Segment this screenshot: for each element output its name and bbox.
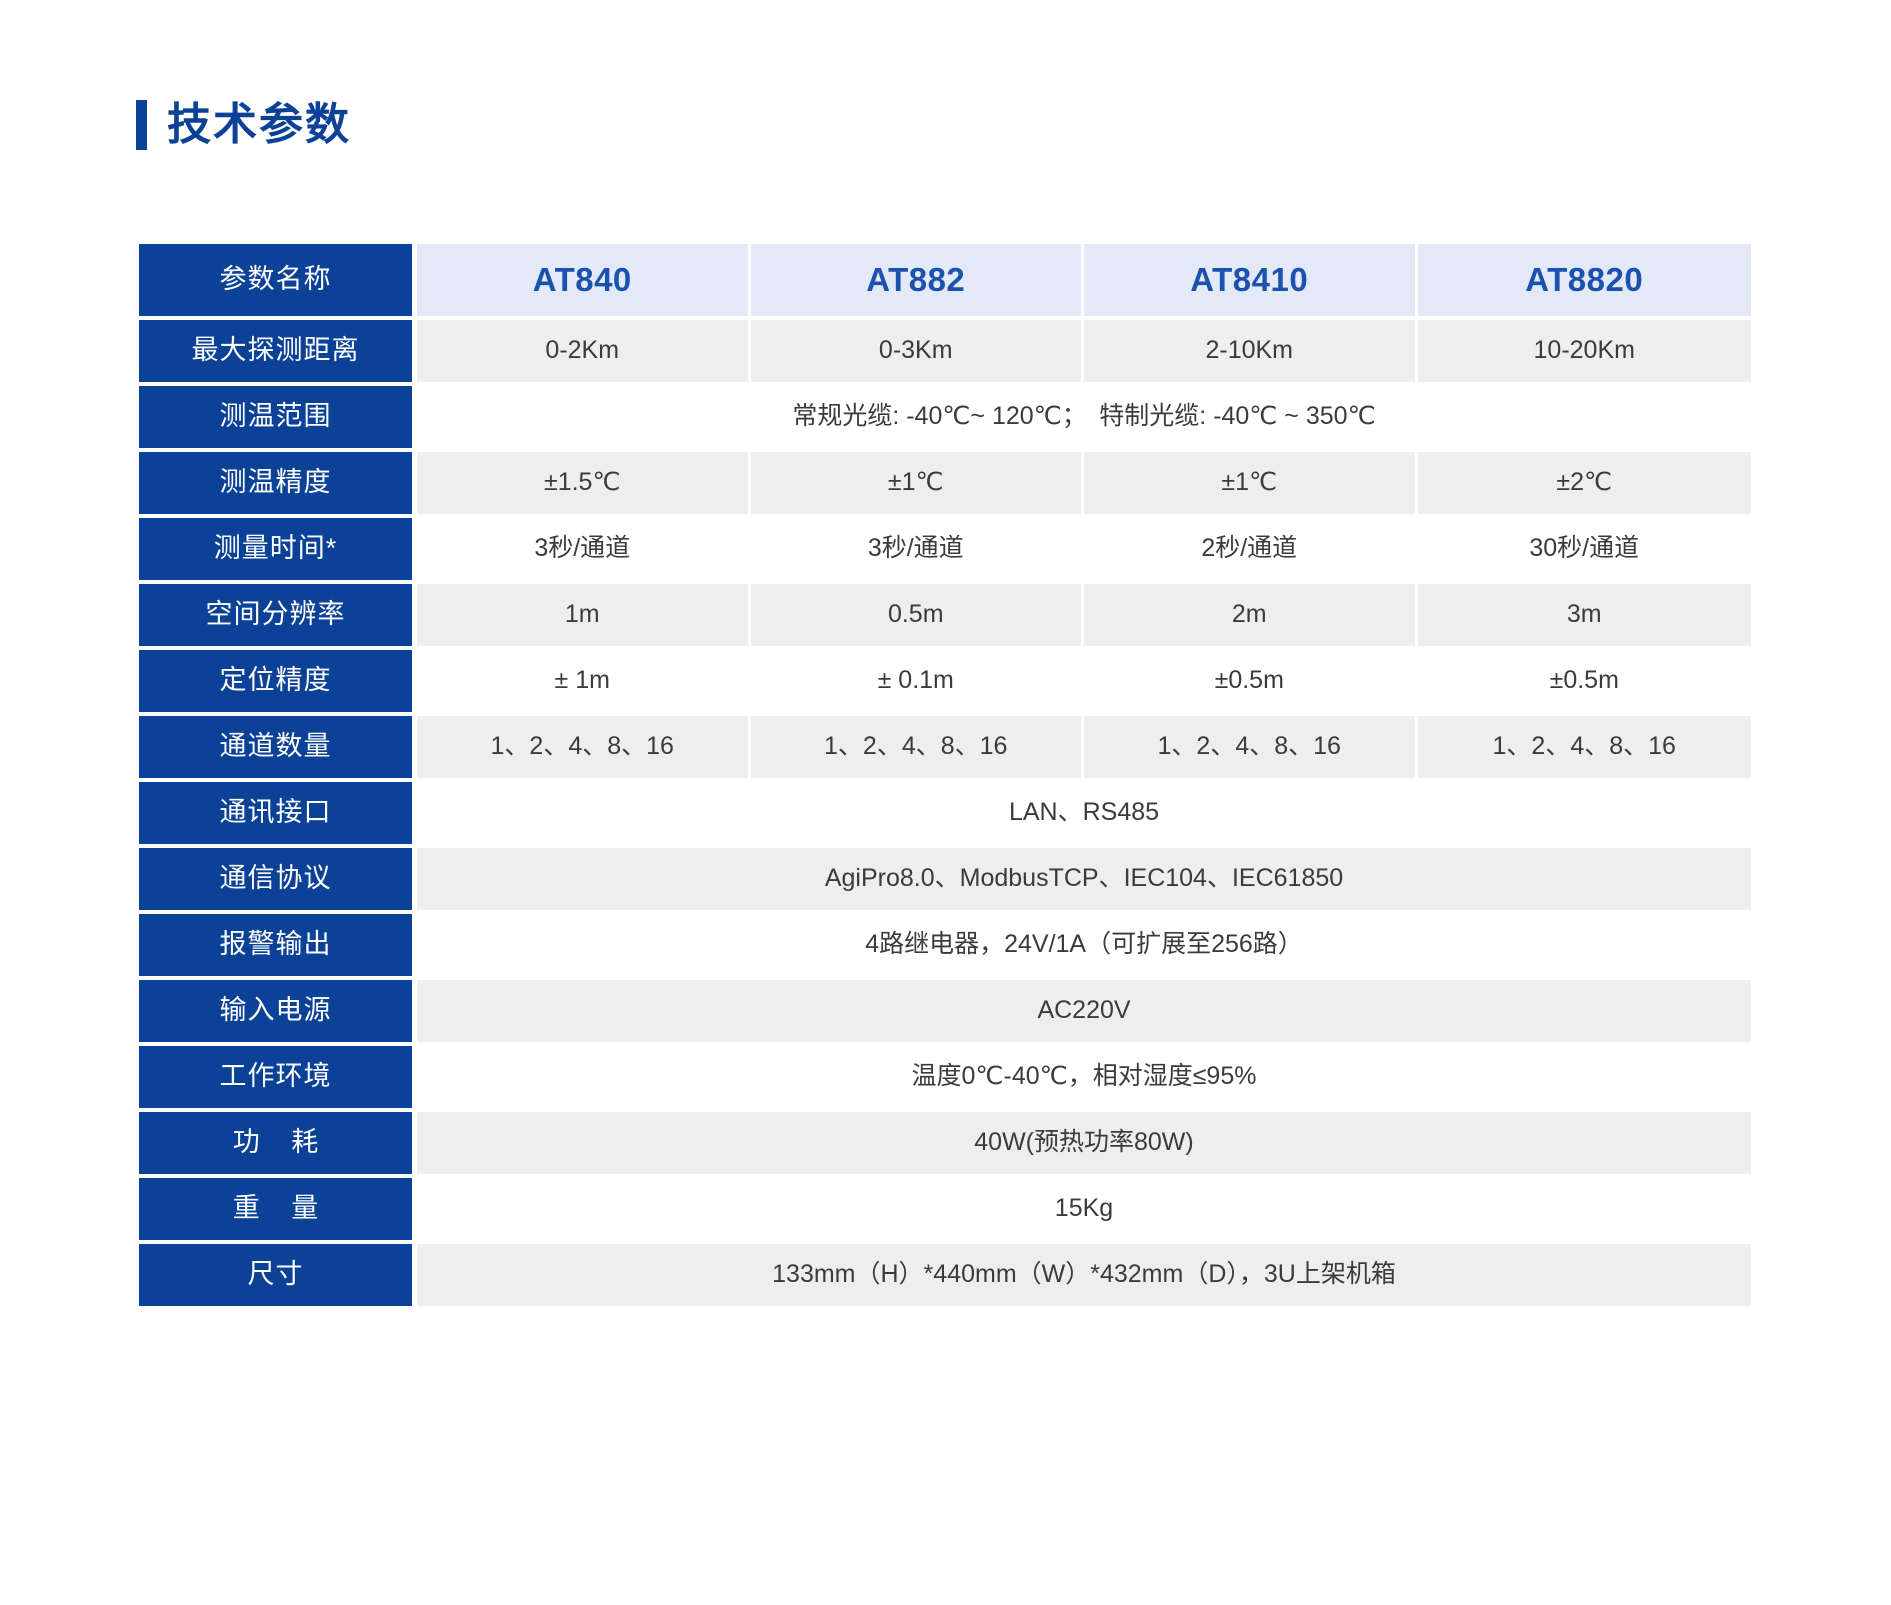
row-label-cell: 空间分辨率 [139,584,417,646]
row-label-cell: 输入电源 [139,980,417,1042]
row-value-cell: 0.5m [751,584,1085,646]
row-value-cell: 3秒/通道 [751,518,1085,580]
table-row: 空间分辨率1m0.5m2m3m [139,584,1751,646]
row-value-cell: ±1.5℃ [417,452,751,514]
row-value-cell: ±1℃ [751,452,1085,514]
title-accent-bar [136,100,147,150]
spec-sheet-page: 技术参数 参数名称AT840AT882AT8410AT8820最大探测距离0-2… [0,0,1891,1605]
row-label-cell: 测温精度 [139,452,417,514]
row-label-cell: 报警输出 [139,914,417,976]
table-row: 报警输出4路继电器，24V/1A（可扩展至256路） [139,914,1751,976]
row-value-cell: 0-3Km [751,320,1085,382]
table-body: 参数名称AT840AT882AT8410AT8820最大探测距离0-2Km0-3… [139,244,1751,1306]
row-label-cell: 通讯接口 [139,782,417,844]
row-label-cell: 通信协议 [139,848,417,910]
row-value-cell: 30秒/通道 [1418,518,1752,580]
row-value-merged: 40W(预热功率80W) [417,1112,1751,1174]
row-label-cell: 测量时间* [139,518,417,580]
table-row: 尺寸133mm（H）*440mm（W）*432mm（D），3U上架机箱 [139,1244,1751,1306]
row-value-cell: 3m [1418,584,1752,646]
row-value-cell: 1、2、4、8、16 [751,716,1085,778]
row-value-cell: 2-10Km [1084,320,1418,382]
column-header-at840: AT840 [417,244,751,316]
table-row: 测温范围常规光缆: -40℃~ 120℃； 特制光缆: -40℃ ~ 350℃ [139,386,1751,448]
row-value-cell: 3秒/通道 [417,518,751,580]
row-value-merged: 温度0℃-40℃，相对湿度≤95% [417,1046,1751,1108]
row-value-cell: 10-20Km [1418,320,1752,382]
row-value-merged: 常规光缆: -40℃~ 120℃； 特制光缆: -40℃ ~ 350℃ [417,386,1751,448]
page-title-text: 技术参数 [167,103,351,147]
row-label-cell: 功 耗 [139,1112,417,1174]
row-label-cell: 定位精度 [139,650,417,712]
table-row: 定位精度± 1m± 0.1m±0.5m±0.5m [139,650,1751,712]
row-value-cell: 1、2、4、8、16 [1084,716,1418,778]
row-value-cell: 1、2、4、8、16 [1418,716,1752,778]
row-value-cell: 0-2Km [417,320,751,382]
row-label-cell: 测温范围 [139,386,417,448]
table-row: 测温精度±1.5℃±1℃±1℃±2℃ [139,452,1751,514]
table-header-row: 参数名称AT840AT882AT8410AT8820 [139,244,1751,316]
row-value-cell: 2秒/通道 [1084,518,1418,580]
row-value-cell: ±1℃ [1084,452,1418,514]
row-value-cell: ±2℃ [1418,452,1752,514]
row-value-cell: ± 1m [417,650,751,712]
row-label-cell: 最大探测距离 [139,320,417,382]
row-label-cell: 工作环境 [139,1046,417,1108]
table-row: 测量时间*3秒/通道3秒/通道2秒/通道30秒/通道 [139,518,1751,580]
row-label-cell: 通道数量 [139,716,417,778]
table-row: 输入电源AC220V [139,980,1751,1042]
table-row: 通道数量1、2、4、8、161、2、4、8、161、2、4、8、161、2、4、… [139,716,1751,778]
row-value-merged: LAN、RS485 [417,782,1751,844]
row-value-merged: AC220V [417,980,1751,1042]
header-label-cell: 参数名称 [139,244,417,316]
row-value-cell: 1m [417,584,751,646]
row-value-cell: ± 0.1m [751,650,1085,712]
table-row: 重 量15Kg [139,1178,1751,1240]
table-row: 功 耗40W(预热功率80W) [139,1112,1751,1174]
column-header-at882: AT882 [751,244,1085,316]
row-value-merged: AgiPro8.0、ModbusTCP、IEC104、IEC61850 [417,848,1751,910]
row-label-cell: 重 量 [139,1178,417,1240]
row-value-cell: 1、2、4、8、16 [417,716,751,778]
row-value-merged: 15Kg [417,1178,1751,1240]
row-label-cell: 尺寸 [139,1244,417,1306]
row-value-cell: ±0.5m [1084,650,1418,712]
table-row: 通信协议AgiPro8.0、ModbusTCP、IEC104、IEC61850 [139,848,1751,910]
table-row: 工作环境温度0℃-40℃，相对湿度≤95% [139,1046,1751,1108]
column-header-at8820: AT8820 [1418,244,1752,316]
page-title: 技术参数 [136,96,351,154]
column-header-at8410: AT8410 [1084,244,1418,316]
row-value-merged: 133mm（H）*440mm（W）*432mm（D），3U上架机箱 [417,1244,1751,1306]
tech-spec-table: 参数名称AT840AT882AT8410AT8820最大探测距离0-2Km0-3… [139,240,1751,1310]
table-row: 最大探测距离0-2Km0-3Km2-10Km10-20Km [139,320,1751,382]
row-value-cell: ±0.5m [1418,650,1752,712]
table-row: 通讯接口LAN、RS485 [139,782,1751,844]
row-value-cell: 2m [1084,584,1418,646]
row-value-merged: 4路继电器，24V/1A（可扩展至256路） [417,914,1751,976]
